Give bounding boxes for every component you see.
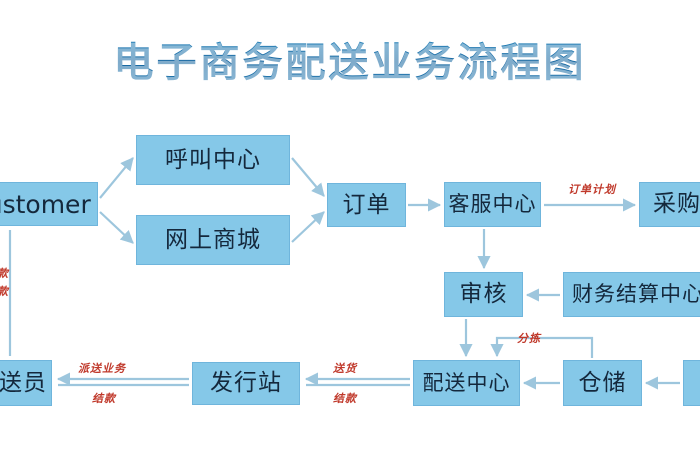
edge-label-sorting: 分拣 <box>517 330 541 346</box>
node-label: 采购 <box>653 193 700 216</box>
label-text: 结款 <box>92 392 116 405</box>
edge-label-payment-bottom: 款 <box>0 283 9 299</box>
edge-label-shipping: 送货 <box>333 360 357 376</box>
node-label: 仓储 <box>579 372 627 395</box>
node-label: 订单 <box>343 194 391 217</box>
node-label: 发行站 <box>210 372 282 395</box>
edge-customer-to-call-center <box>100 158 133 198</box>
node-supplier[interactable] <box>683 360 700 406</box>
node-online-mall[interactable]: 网上商城 <box>136 215 290 265</box>
edge-customer-to-online-mall <box>100 212 133 243</box>
node-label: 客服中心 <box>449 194 537 215</box>
label-text: 款 <box>0 267 9 280</box>
flowchart-canvas: 电子商务配送业务流程图 <box>0 0 700 470</box>
page-title: 电子商务配送业务流程图 <box>0 30 700 88</box>
node-finance-settlement-center[interactable]: 财务结算中心 <box>563 272 700 317</box>
label-text: 派送业务 <box>78 362 126 375</box>
label-text: 订单计划 <box>568 183 616 196</box>
edge-label-dispatch-business: 派送业务 <box>78 360 126 376</box>
node-label: 网上商城 <box>165 229 261 252</box>
edge-label-payment-top: 款 <box>0 265 9 281</box>
label-text: 分拣 <box>517 332 541 345</box>
node-purchasing[interactable]: 采购 <box>639 182 700 227</box>
edge-label-settlement-right: 结款 <box>333 390 357 406</box>
node-service-center[interactable]: 客服中心 <box>444 182 541 227</box>
node-label: 送员 <box>0 372 47 395</box>
node-label: 呼叫中心 <box>165 149 261 172</box>
node-distribution-station[interactable]: 发行站 <box>192 362 300 405</box>
edge-label-order-plan: 订单计划 <box>568 181 616 197</box>
edge-call-center-to-order <box>292 158 324 196</box>
node-customer[interactable]: Customer <box>0 182 98 226</box>
node-label: 审核 <box>460 283 508 306</box>
edge-warehouse-sorting-to-delivery-center <box>497 338 592 358</box>
node-audit[interactable]: 审核 <box>444 272 523 317</box>
node-label: Customer <box>0 192 91 217</box>
node-warehouse[interactable]: 仓储 <box>563 360 642 406</box>
label-text: 送货 <box>333 362 357 375</box>
node-order[interactable]: 订单 <box>327 183 406 227</box>
node-call-center[interactable]: 呼叫中心 <box>136 135 290 185</box>
label-text: 款 <box>0 285 9 298</box>
node-delivery-center[interactable]: 配送中心 <box>413 360 520 406</box>
node-label: 财务结算中心 <box>572 284 700 305</box>
node-courier[interactable]: 送员 <box>0 360 52 406</box>
edge-online-mall-to-order <box>292 212 324 242</box>
node-label: 配送中心 <box>423 373 511 394</box>
edge-label-settlement-left: 结款 <box>92 390 116 406</box>
label-text: 结款 <box>333 392 357 405</box>
